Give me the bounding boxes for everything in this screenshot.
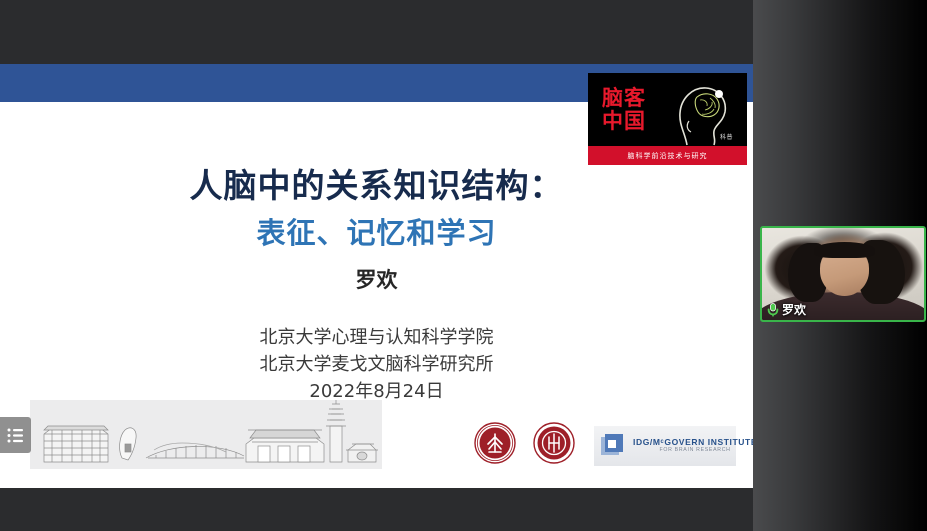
pku-department-seal <box>533 422 575 464</box>
mcgovern-logo-line2: FOR BRAIN RESEARCH <box>633 448 757 454</box>
microphone-icon <box>767 303 779 317</box>
list-toggle-button[interactable] <box>0 417 31 453</box>
participant-video-tile[interactable]: 罗欢 <box>760 226 926 322</box>
conference-logo-line1: 脑客 <box>602 86 646 110</box>
slide-subtitle: 表征、记忆和学习 <box>0 210 753 252</box>
affiliation-line: 北京大学麦戈文脑科学研究所 <box>0 351 753 378</box>
slide-title: 人脑中的关系知识结构： <box>0 159 753 207</box>
meeting-window: 脑客中国 科普 脑科学前沿技术与研究 人脑中的关系知识结构： 表征、记忆和学习 … <box>0 0 927 531</box>
pku-campus-skyline-illustration <box>30 400 382 469</box>
slide-affiliations: 北京大学心理与认知科学学院 北京大学麦戈文脑科学研究所 2022年8月24日 <box>0 324 753 405</box>
participant-name-label: 罗欢 <box>782 304 806 316</box>
conference-logo-small-label: 科普 <box>720 132 733 141</box>
list-icon <box>7 428 24 443</box>
conference-logo-text: 脑客中国 <box>602 87 646 132</box>
brain-club-china-logo: 脑客中国 科普 脑科学前沿技术与研究 <box>588 73 747 165</box>
participant-name-badge: 罗欢 <box>765 302 810 318</box>
shared-screen-slide[interactable]: 脑客中国 科普 脑科学前沿技术与研究 人脑中的关系知识结构： 表征、记忆和学习 … <box>0 64 753 488</box>
peking-university-seal <box>474 422 516 464</box>
video-person-bangs <box>814 242 876 259</box>
affiliation-line: 北京大学心理与认知科学学院 <box>0 324 753 351</box>
slide-author: 罗欢 <box>0 264 753 294</box>
conference-logo-line2: 中国 <box>602 109 646 133</box>
mcgovern-square-mark <box>600 433 626 459</box>
idg-mcgovern-institute-logo: IDG/MᶜGOVERN INSTITUTE FOR BRAIN RESEARC… <box>594 426 736 466</box>
